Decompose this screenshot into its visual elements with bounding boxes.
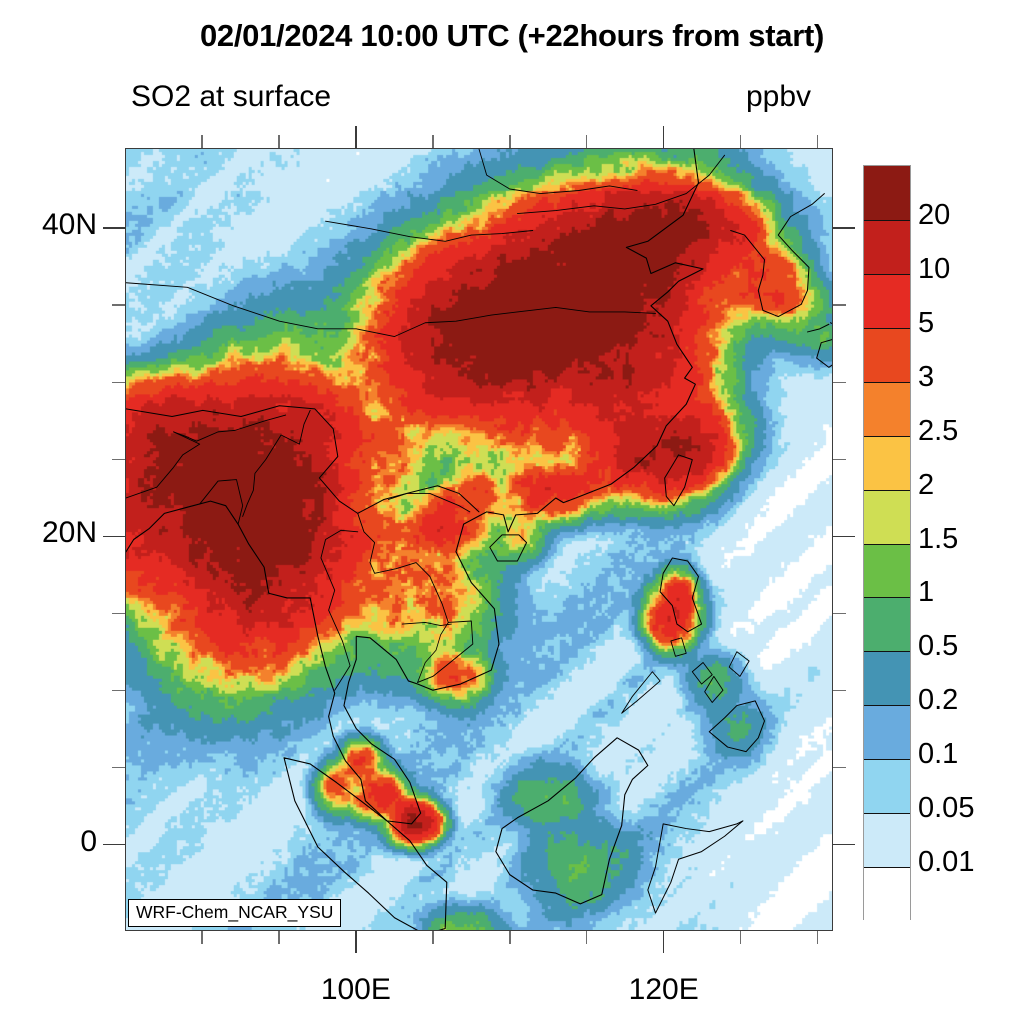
- colorbar-band: [864, 544, 910, 599]
- x-axis-tick: [432, 931, 434, 944]
- colorbar-band: [864, 813, 910, 868]
- colorbar-tick-label: 2.5: [918, 415, 958, 448]
- coastline-path: [496, 738, 648, 904]
- coastline-path: [402, 622, 451, 625]
- coastline-path: [648, 821, 743, 913]
- y-axis-tick: [833, 613, 846, 615]
- y-axis-tick: [112, 690, 125, 692]
- y-axis-tick: [112, 613, 125, 615]
- colorbar-tick-label: 0.1: [918, 738, 958, 771]
- x-axis-tick: [355, 931, 357, 953]
- y-axis-tick: [112, 459, 125, 461]
- coastline-path: [622, 672, 660, 713]
- y-axis-tick: [833, 690, 846, 692]
- colorbar-band: [864, 274, 910, 329]
- x-axis-tick: [201, 931, 203, 944]
- y-axis-tick: [112, 304, 125, 306]
- x-axis-tick: [201, 135, 203, 148]
- colorbar-tick-label: 0.2: [918, 684, 958, 717]
- colorbar-band: [864, 759, 910, 814]
- colorbar-band: [864, 382, 910, 437]
- x-axis-tick: [509, 135, 511, 148]
- x-axis-tick: [586, 135, 588, 148]
- y-axis-tick: [833, 227, 855, 229]
- colorbar-band: [864, 597, 910, 652]
- x-axis-tick: [740, 135, 742, 148]
- y-axis-tick: [833, 767, 846, 769]
- x-axis-tick: [663, 931, 665, 953]
- model-annotation: WRF-Chem_NCAR_YSU: [128, 899, 341, 927]
- x-axis-label: 120E: [584, 973, 744, 1007]
- coastline-path: [671, 638, 686, 656]
- colorbar-tick-label: 5: [918, 307, 934, 340]
- colorbar[interactable]: [863, 165, 911, 920]
- y-axis-tick: [833, 382, 846, 384]
- coastline-path: [490, 535, 527, 561]
- colorbar-tick-label: 10: [918, 253, 950, 286]
- coastline-path: [326, 221, 533, 241]
- colorbar-tick-label: 1: [918, 576, 934, 609]
- x-axis-tick: [278, 931, 280, 944]
- coastline-overlay: [126, 149, 832, 930]
- colorbar-tick-label: 1.5: [918, 523, 958, 556]
- x-axis-tick: [586, 931, 588, 944]
- coastline-path: [174, 415, 286, 441]
- colorbar-tick-label: 2: [918, 469, 934, 502]
- y-axis-label: 20N: [0, 516, 97, 550]
- colorbar-tick-label: 0.05: [918, 792, 974, 825]
- colorbar-band: [864, 166, 910, 220]
- variable-label: SO2 at surface: [131, 80, 331, 114]
- coastline-path: [126, 283, 656, 337]
- coastline-path: [660, 558, 701, 632]
- coastline-path: [388, 493, 469, 511]
- y-axis-tick: [112, 767, 125, 769]
- y-axis-tick: [833, 844, 855, 846]
- colorbar-band: [864, 705, 910, 760]
- coastline-path: [665, 455, 693, 506]
- colorbar-band: [864, 651, 910, 706]
- coastline-path: [321, 530, 358, 690]
- y-axis-tick: [112, 382, 125, 384]
- coastline-path: [479, 149, 637, 194]
- colorbar-band: [864, 490, 910, 545]
- x-axis-tick: [278, 135, 280, 148]
- x-axis-tick: [509, 931, 511, 944]
- coastline-path: [731, 194, 825, 317]
- y-axis-tick: [833, 304, 846, 306]
- colorbar-band: [864, 220, 910, 275]
- coastline-path: [807, 324, 828, 332]
- y-axis-label: 0: [0, 825, 97, 859]
- page-title: 02/01/2024 10:00 UTC (+22hours from star…: [0, 18, 1024, 54]
- y-axis-tick: [103, 227, 125, 229]
- x-axis-tick: [740, 931, 742, 944]
- colorbar-tick-label: 0.01: [918, 846, 974, 879]
- y-axis-tick: [833, 536, 855, 538]
- colorbar-band: [864, 436, 910, 491]
- x-axis-tick: [432, 135, 434, 148]
- y-axis-tick: [103, 536, 125, 538]
- x-axis-label: 100E: [276, 973, 436, 1007]
- coastline-path: [517, 155, 724, 213]
- x-axis-tick: [817, 135, 819, 148]
- colorbar-band: [864, 328, 910, 383]
- y-axis-label: 40N: [0, 208, 97, 242]
- colorbar-tick-label: 3: [918, 361, 934, 394]
- units-label: ppbv: [746, 80, 811, 114]
- map-plot-area: [125, 148, 833, 931]
- coastline-path: [243, 410, 311, 516]
- colorbar-tick-label: 0.5: [918, 630, 958, 663]
- colorbar-tick-label: 20: [918, 199, 950, 232]
- x-axis-tick: [663, 126, 665, 148]
- coastline-path: [692, 662, 712, 684]
- coastline-path: [126, 432, 200, 498]
- y-axis-tick: [833, 459, 846, 461]
- x-axis-tick: [817, 931, 819, 944]
- coastline-path: [729, 652, 749, 677]
- colorbar-band: [864, 867, 910, 922]
- coastline-path: [358, 513, 473, 682]
- coastline-path: [705, 676, 723, 702]
- y-axis-tick: [103, 844, 125, 846]
- x-axis-tick: [355, 126, 357, 148]
- coastline-path: [709, 701, 764, 752]
- coastline-path: [126, 149, 703, 824]
- coastline-path: [418, 622, 449, 682]
